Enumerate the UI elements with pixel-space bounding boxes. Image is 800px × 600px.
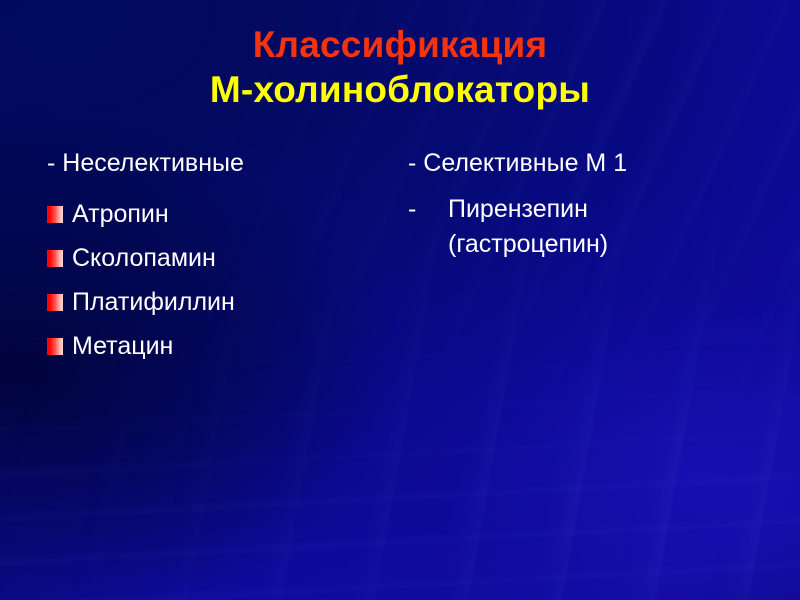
title-line-drug-class: М-холиноблокаторы — [0, 67, 800, 112]
list-item: Атропин — [34, 192, 404, 236]
title-line-classification: Классификация — [0, 22, 800, 67]
list-item: Сколопамин — [34, 236, 404, 280]
dash-bullet-icon: - — [408, 192, 448, 226]
red-square-bullet-icon — [47, 250, 63, 267]
drug-name-scopolamine: Сколопамин — [72, 243, 216, 273]
presentation-slide: Классификация М-холиноблокаторы - Неселе… — [0, 0, 800, 600]
slide-title: Классификация М-холиноблокаторы — [0, 22, 800, 112]
column-header-selective-m1: - Селективные М 1 — [408, 146, 788, 180]
column-selective-m1: - Селективные М 1 - Пирензепин (гастроце… — [408, 146, 788, 262]
list-item: Метацин — [34, 324, 404, 368]
red-square-bullet-icon — [47, 338, 63, 355]
slide-content: Классификация М-холиноблокаторы - Неселе… — [0, 0, 800, 600]
right-column-spacer — [408, 180, 788, 192]
drug-name-metacin: Метацин — [72, 331, 173, 361]
non-selective-drug-list: Атропин Сколопамин Платифиллин Метацин — [34, 192, 404, 368]
drug-name-pirenzepine: Пирензепин — [448, 195, 588, 223]
drug-name-platyphylline: Платифиллин — [72, 287, 235, 317]
red-square-bullet-icon — [47, 294, 63, 311]
red-square-bullet-icon — [47, 206, 63, 223]
list-item: Платифиллин — [34, 280, 404, 324]
drug-name-atropine: Атропин — [72, 199, 169, 229]
drug-entry-pirenzepine: Пирензепин (гастроцепин) — [448, 192, 608, 262]
left-column-spacer — [34, 180, 404, 192]
selective-drug-list: - Пирензепин (гастроцепин) — [408, 192, 788, 262]
column-non-selective: - Неселективные Атропин Сколопамин Плати… — [34, 146, 404, 368]
column-header-non-selective: - Неселективные — [34, 146, 404, 180]
list-item: - Пирензепин (гастроцепин) — [408, 192, 788, 262]
drug-alias-gastrozepin: (гастроцепин) — [448, 226, 608, 262]
